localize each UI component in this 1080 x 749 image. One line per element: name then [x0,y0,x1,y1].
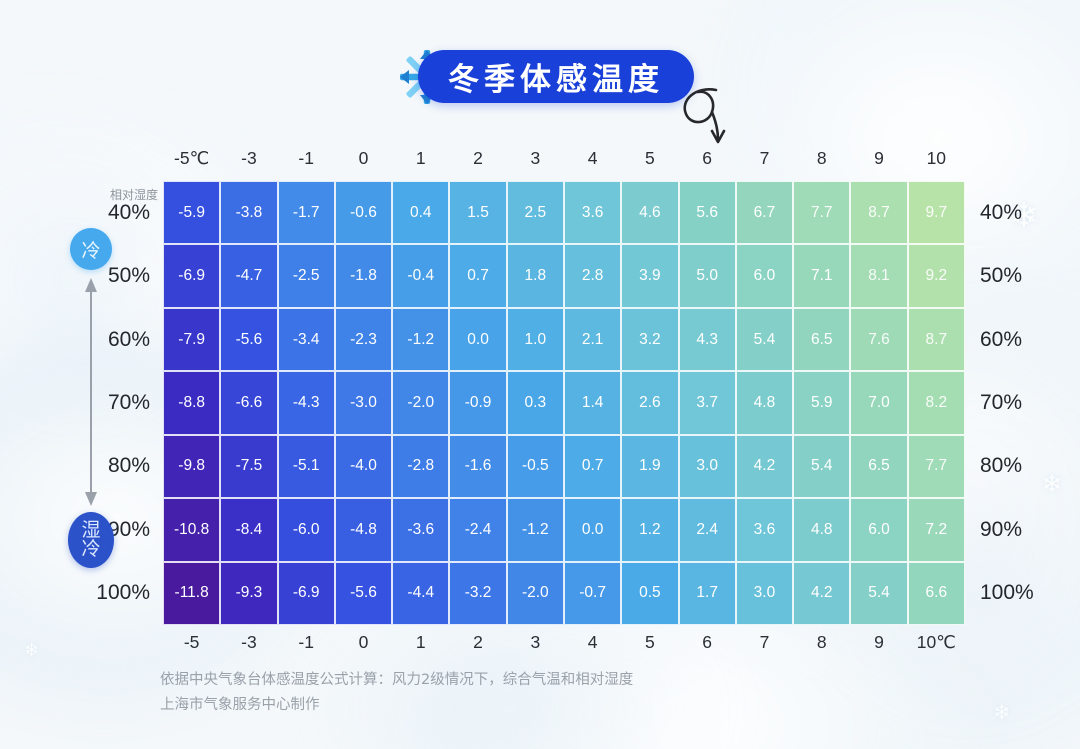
heatmap-cell: 0.0 [449,308,506,371]
top-axis-label-13: 10 [908,148,965,176]
heatmap-cell: 0.5 [621,562,678,625]
heatmap-cell: 3.0 [736,562,793,625]
top-axis-label-1: -3 [220,148,277,176]
row-label-6: 100% [60,562,158,625]
damp-cold-badge: 湿 冷 [68,512,114,568]
heatmap-cell: -3.0 [335,371,392,434]
heatmap-cell: -1.2 [507,498,564,561]
heatmap-cell: 3.0 [679,435,736,498]
top-axis-label-6: 3 [507,148,564,176]
heatmap-row: -7.9-5.6-3.4-2.3-1.20.01.02.13.24.35.46.… [163,308,965,371]
bottom-axis-label-8: 5 [621,632,678,658]
heatmap-cell: 0.7 [449,244,506,307]
cold-badge-label: 冷 [81,236,100,263]
top-axis-label-5: 2 [449,148,506,176]
heatmap-cell: 0.4 [392,181,449,244]
heatmap-cell: -4.8 [335,498,392,561]
heatmap-cell: 8.7 [850,181,907,244]
heatmap-cell: -5.1 [278,435,335,498]
heatmap-cell: -4.7 [220,244,277,307]
heatmap-cell: 1.9 [621,435,678,498]
heatmap-cell: -1.8 [335,244,392,307]
heatmap-cell: 6.7 [736,181,793,244]
heatmap-cell: -4.0 [335,435,392,498]
bottom-axis-label-1: -3 [220,632,277,658]
heatmap-cell: 7.1 [793,244,850,307]
heatmap-cell: -2.8 [392,435,449,498]
bottom-axis-labels: -5-3-1012345678910℃ [163,632,965,658]
heatmap-cell: 3.9 [621,244,678,307]
heatmap-cell: -10.8 [163,498,220,561]
heatmap-cell: 0.7 [564,435,621,498]
heatmap-cell: -4.4 [392,562,449,625]
heatmap-cell: -7.5 [220,435,277,498]
heatmap-cell: -0.4 [392,244,449,307]
heatmap-cell: 4.2 [793,562,850,625]
heatmap-cell: 3.6 [736,498,793,561]
heatmap-cell: 8.2 [908,371,965,434]
heatmap-cell: -2.3 [335,308,392,371]
damp-cold-badge-label-2: 冷 [81,540,100,559]
heatmap-cell: 6.5 [793,308,850,371]
heatmap-cell: 1.2 [621,498,678,561]
heatmap-cell: 6.0 [850,498,907,561]
heatmap-cell: -6.0 [278,498,335,561]
heatmap-cell: 6.5 [850,435,907,498]
heatmap-cell: -6.9 [278,562,335,625]
top-axis-label-2: -1 [278,148,335,176]
row-label-right-3: 70% [980,371,1075,434]
heatmap-cell: -3.6 [392,498,449,561]
heatmap-cell: -3.2 [449,562,506,625]
heatmap-cell: -0.9 [449,371,506,434]
heatmap-cell: -2.0 [392,371,449,434]
heatmap-cell: -4.3 [278,371,335,434]
top-axis-label-8: 5 [621,148,678,176]
top-axis-label-12: 9 [850,148,907,176]
top-axis-label-10: 7 [736,148,793,176]
heatmap-cell: 3.7 [679,371,736,434]
heatmap-cell: 1.0 [507,308,564,371]
heatmap-cell: -6.6 [220,371,277,434]
heatmap-cell: -8.4 [220,498,277,561]
row-label-right-0: 40% [980,181,1075,244]
top-axis-label-0: -5℃ [163,148,220,176]
heatmap-cell: 2.4 [679,498,736,561]
heatmap-cell: 4.2 [736,435,793,498]
heatmap-cell: 5.4 [736,308,793,371]
heatmap-cell: -11.8 [163,562,220,625]
top-axis-label-11: 8 [793,148,850,176]
bottom-axis-label-10: 7 [736,632,793,658]
cold-badge: 冷 [70,228,112,270]
bottom-axis-label-6: 3 [507,632,564,658]
top-axis-label-4: 1 [392,148,449,176]
top-axis-labels: -5℃-3-1012345678910 [163,148,965,176]
heatmap-cell: -5.6 [220,308,277,371]
heatmap-cell: 6.6 [908,562,965,625]
heatmap-cell: 9.7 [908,181,965,244]
heatmap-row: -10.8-8.4-6.0-4.8-3.6-2.4-1.20.01.22.43.… [163,498,965,561]
heatmap-cell: -1.6 [449,435,506,498]
heatmap-cell: -8.8 [163,371,220,434]
heatmap-cell: -7.9 [163,308,220,371]
heatmap-cell: 0.3 [507,371,564,434]
row-label-right-4: 80% [980,435,1075,498]
heatmap-row: -8.8-6.6-4.3-3.0-2.0-0.90.31.42.63.74.85… [163,371,965,434]
row-label-right-5: 90% [980,498,1075,561]
bottom-axis-label-9: 6 [679,632,736,658]
heatmap-cell: -5.9 [163,181,220,244]
bottom-axis-label-2: -1 [278,632,335,658]
curved-arrow-icon [672,84,752,146]
heatmap-cell: -1.7 [278,181,335,244]
heatmap-cell: 4.3 [679,308,736,371]
heatmap-cell: 7.2 [908,498,965,561]
heatmap-cell: 5.4 [850,562,907,625]
bottom-axis-label-11: 8 [793,632,850,658]
bottom-axis-label-12: 9 [850,632,907,658]
heatmap-cell: 6.0 [736,244,793,307]
heatmap-cell: 1.4 [564,371,621,434]
top-axis-label-7: 4 [564,148,621,176]
heatmap-cell: 4.8 [793,498,850,561]
heatmap-cell: -3.8 [220,181,277,244]
heatmap-cell: 2.1 [564,308,621,371]
row-label-right-2: 60% [980,308,1075,371]
heatmap-cell: 5.4 [793,435,850,498]
heatmap-cell: 5.0 [679,244,736,307]
bottom-axis-label-0: -5 [163,632,220,658]
heatmap-grid: -5.9-3.8-1.7-0.60.41.52.53.64.65.66.77.7… [163,181,965,625]
heatmap-cell: 7.0 [850,371,907,434]
heatmap-cell: -2.4 [449,498,506,561]
heatmap-row: -9.8-7.5-5.1-4.0-2.8-1.6-0.50.71.93.04.2… [163,435,965,498]
bottom-axis-label-3: 0 [335,632,392,658]
heatmap-cell: 1.5 [449,181,506,244]
humidity-direction-arrow-icon [74,272,108,512]
page-title: 冬季体感温度 [448,54,664,99]
top-axis-label-3: 0 [335,148,392,176]
heatmap-cell: 9.2 [908,244,965,307]
heatmap-cell: -1.2 [392,308,449,371]
footer-note: 依据中央气象台体感温度公式计算：风力2级情况下，综合气温和相对湿度 上海市气象服… [160,668,920,719]
heatmap-cell: -9.8 [163,435,220,498]
heatmap-cell: 7.7 [793,181,850,244]
heatmap-cell: 8.1 [850,244,907,307]
heatmap-cell: 5.9 [793,371,850,434]
heatmap-cell: 7.7 [908,435,965,498]
heatmap-row: -5.9-3.8-1.7-0.60.41.52.53.64.65.66.77.7… [163,181,965,244]
footer-line-1: 依据中央气象台体感温度公式计算：风力2级情况下，综合气温和相对湿度 [160,668,920,693]
heatmap-cell: 5.6 [679,181,736,244]
heatmap-cell: 2.8 [564,244,621,307]
heatmap-cell: 3.6 [564,181,621,244]
heatmap-cell: 0.0 [564,498,621,561]
heatmap-cell: 3.2 [621,308,678,371]
right-axis-labels: 40%50%60%70%80%90%100% [980,181,1075,625]
row-label-right-6: 100% [980,562,1075,625]
heatmap-cell: 2.5 [507,181,564,244]
heatmap-cell: -9.3 [220,562,277,625]
header: 冬季体感温度 [0,0,1080,140]
heatmap-cell: 2.6 [621,371,678,434]
heatmap-cell: 8.7 [908,308,965,371]
heatmap-cell: -2.5 [278,244,335,307]
heatmap-cell: 1.8 [507,244,564,307]
heatmap-cell: -3.4 [278,308,335,371]
page-title-badge: 冬季体感温度 [418,50,694,103]
heatmap-cell: 7.6 [850,308,907,371]
bottom-axis-label-13: 10℃ [908,632,965,658]
heatmap-cell: -0.7 [564,562,621,625]
heatmap-cell: 1.7 [679,562,736,625]
bottom-axis-label-5: 2 [449,632,506,658]
heatmap-cell: -0.6 [335,181,392,244]
bottom-axis-label-4: 1 [392,632,449,658]
heatmap-cell: 4.6 [621,181,678,244]
heatmap-row: -6.9-4.7-2.5-1.8-0.40.71.82.83.95.06.07.… [163,244,965,307]
heatmap-cell: 4.8 [736,371,793,434]
heatmap-row: -11.8-9.3-6.9-5.6-4.4-3.2-2.0-0.70.51.73… [163,562,965,625]
heatmap-cell: -2.0 [507,562,564,625]
top-axis-label-9: 6 [679,148,736,176]
footer-line-2: 上海市气象服务中心制作 [160,693,920,718]
row-label-right-1: 50% [980,244,1075,307]
bottom-axis-label-7: 4 [564,632,621,658]
heatmap-cell: -6.9 [163,244,220,307]
heatmap-cell: -0.5 [507,435,564,498]
heatmap-cell: -5.6 [335,562,392,625]
